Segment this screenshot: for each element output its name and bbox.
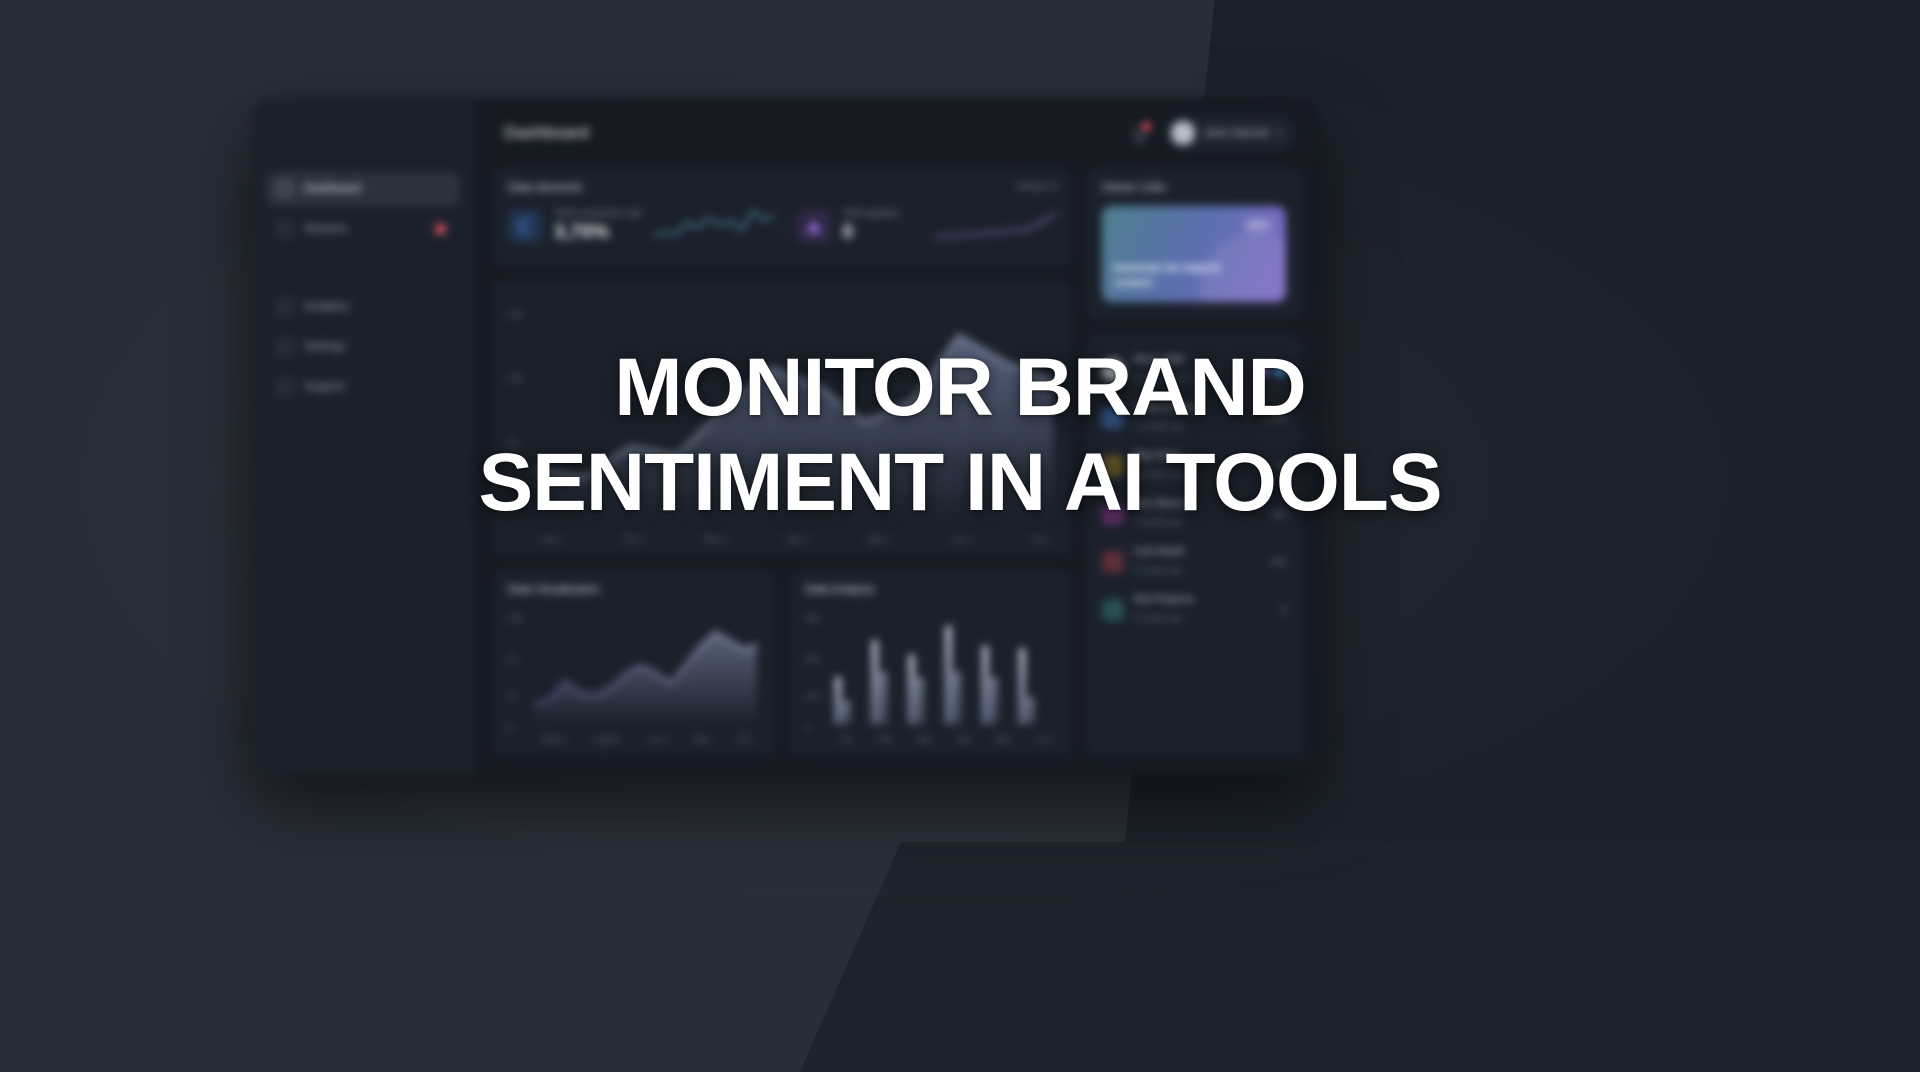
user-name: Jane Samuel [1204, 127, 1268, 139]
list-item-name: Valdev Dreamt [1134, 402, 1255, 413]
list-item-name: Core Wenth [1134, 546, 1262, 557]
stats-card-title: Data elements [508, 182, 1056, 194]
stats-row: Total conversion rate 3,70% Total u [508, 206, 1056, 246]
data-analysis-card: Data Analysis 300 200 100 0 [789, 570, 1072, 756]
list-item-value: 275 [1272, 557, 1286, 567]
content-area: Data elements Annual ▾ Total conversion … [474, 168, 1320, 774]
list-item-name: Reg Yoash [1134, 450, 1267, 461]
app-window: Dashboard Streams Analytics Settings Sup… [252, 98, 1320, 774]
data-visualization-area-chart [508, 608, 759, 742]
card-title: Data Analysis [805, 584, 1056, 596]
x-tick: Mar 1 [705, 534, 727, 544]
x-tick: March [542, 734, 566, 744]
stat-conversion-rate: Total conversion rate 3,70% [508, 208, 768, 244]
list-item-value: 125 [1272, 509, 1286, 519]
list-item-text: Nova Leitell moments hours ago [1134, 354, 1248, 386]
avatar-icon [1102, 359, 1124, 381]
chart-icon [278, 300, 292, 314]
x-tick: Apr [957, 734, 970, 744]
x-tick: Nov [738, 734, 753, 744]
sidebar-item-label: Streams [304, 223, 347, 235]
bell-clapper [1138, 140, 1143, 143]
sidebar-item-settings[interactable]: Settings [266, 330, 460, 364]
page-title: Dashboard [504, 123, 589, 143]
triangle-icon [797, 209, 831, 243]
x-tick: Jan 1 [542, 534, 563, 544]
x-tick: June [647, 734, 665, 744]
sidebar-item-streams[interactable]: Streams [266, 212, 460, 246]
bell-icon[interactable] [1132, 125, 1148, 142]
list-item-value: 78 [1277, 461, 1286, 471]
data-visualization-body: 100 50 10 0 [508, 608, 759, 742]
sidebar: Dashboard Streams Analytics Settings Sup… [252, 98, 474, 774]
sidebar-divider [266, 252, 460, 290]
chevron-down-icon: ▾ [1051, 181, 1056, 192]
list-item-text: Ravi Priyanna 9 months ago [1134, 594, 1271, 626]
list-item-time: 8 minutes ago [1134, 470, 1184, 479]
list-item-name: Nova Leitell [1134, 354, 1248, 365]
heart-icon [1102, 551, 1124, 573]
x-tick: May 1 [868, 534, 891, 544]
data-analysis-bar-chart [805, 608, 1056, 742]
overview-chart-card: 150 100 50 0 [492, 280, 1072, 556]
promo-badge: 26% [1242, 218, 1274, 232]
x-axis-labels: Jan Feb Mar Apr May Jun [839, 734, 1050, 744]
list-item-name: Alex Stromm [1134, 498, 1262, 509]
sidebar-item-label: Dashboard [304, 183, 360, 195]
card-title: Data Visualization [508, 584, 759, 596]
sparkline-conversion [654, 209, 774, 243]
sidebar-item-label: Analytics [304, 301, 350, 313]
stat-label: Total updates [843, 208, 900, 219]
activity-list-card: Nova Leitell moments hours ago Valdev Dr… [1086, 334, 1302, 756]
social-icon-b[interactable] [1275, 365, 1286, 376]
stat-total-updates: Total updates 0 [797, 208, 1057, 244]
stats-card: Data elements Annual ▾ Total conversion … [492, 168, 1072, 266]
stat-value: 0 [843, 222, 854, 243]
list-icon [278, 222, 292, 236]
gear-icon [278, 340, 292, 354]
sidebar-item-label: Settings [304, 341, 346, 353]
x-axis-labels: March August June Sept Nov [542, 734, 753, 744]
list-item[interactable]: Core Wenth 8 months ago 275 [1102, 538, 1286, 586]
owner-links-card: Owner Links 26% Dominate the highest con… [1086, 168, 1302, 320]
list-item-time: 9 months ago [1134, 614, 1182, 623]
sidebar-item-dashboard[interactable]: Dashboard [266, 172, 460, 206]
x-tick: Apr 1 [787, 534, 807, 544]
content-left-column: Data elements Annual ▾ Total conversion … [492, 168, 1072, 756]
x-tick: Mar [917, 734, 932, 744]
list-item[interactable]: Valdev Dreamt 2 minutes ago 1,238 [1102, 394, 1286, 442]
promo-tile[interactable]: 26% Dominate the highest content [1102, 206, 1286, 302]
user-menu[interactable]: Jane Samuel ▾ [1166, 116, 1294, 150]
stat-label: Total conversion rate [554, 208, 642, 219]
sidebar-item-analytics[interactable]: Analytics [266, 290, 460, 324]
list-item-time: 2 minutes ago [1134, 422, 1184, 431]
chevron-down-icon: ▾ [1277, 128, 1282, 139]
list-item-text: Reg Yoash 8 minutes ago [1134, 450, 1267, 482]
x-axis-labels: Jan 1 Feb 1 Mar 1 Apr 1 May 1 Jun 1 Jul … [542, 534, 1050, 544]
avatar [1171, 121, 1195, 145]
list-item-time: 3 months ago [1134, 518, 1182, 527]
x-tick: Jun 1 [951, 534, 972, 544]
card-title: Owner Links [1102, 182, 1286, 194]
notification-badge [1142, 122, 1151, 131]
social-icons [1258, 365, 1286, 376]
social-icon-a[interactable] [1258, 365, 1269, 376]
overview-line-chart [508, 294, 1056, 542]
x-tick: August [593, 734, 619, 744]
list-item[interactable]: Reg Yoash 8 minutes ago 78 [1102, 442, 1286, 490]
list-item-time: 8 months ago [1134, 566, 1182, 575]
x-tick: Jul 1 [1032, 534, 1050, 544]
content-right-column: Owner Links 26% Dominate the highest con… [1086, 168, 1302, 756]
sidebar-item-label: Support [304, 381, 344, 393]
stat-text: Total conversion rate 3,70% [554, 208, 642, 244]
x-tick: Sept [693, 734, 711, 744]
list-item[interactable]: Nova Leitell moments hours ago [1102, 346, 1286, 394]
list-item-time: moments hours ago [1134, 374, 1205, 383]
data-visualization-card: Data Visualization 100 50 10 0 [492, 570, 775, 756]
main-column: Dashboard Jane Samuel ▾ Data elements [474, 98, 1320, 774]
leaf-icon [1102, 599, 1124, 621]
list-item-name: Ravi Priyanna [1134, 594, 1271, 605]
warning-icon [1102, 455, 1124, 477]
refresh-circle-icon [508, 209, 542, 243]
square-icon [1102, 407, 1124, 429]
x-tick: Feb [878, 734, 893, 744]
list-item[interactable]: Alex Stromm 3 months ago 125 [1102, 490, 1286, 538]
sidebar-item-support[interactable]: Support [266, 370, 460, 404]
list-item[interactable]: Ravi Priyanna 9 months ago 9 [1102, 586, 1286, 634]
list-item-value: 1,238 [1265, 413, 1286, 423]
sidebar-badge-dot [435, 224, 446, 235]
sparkline-updates [936, 209, 1056, 243]
app-window-blur-wrapper: Dashboard Streams Analytics Settings Sup… [252, 98, 1320, 774]
list-item-text: Valdev Dreamt 2 minutes ago [1134, 402, 1255, 434]
topbar-actions: Jane Samuel ▾ [1132, 116, 1294, 150]
x-tick: Jun [1036, 734, 1050, 744]
x-tick: Jan [839, 734, 853, 744]
promo-text: Dominate the highest content [1114, 261, 1246, 291]
bottom-charts-row: Data Visualization 100 50 10 0 [492, 570, 1072, 756]
stat-divider [782, 206, 783, 246]
range-label: Annual [1017, 181, 1047, 192]
grid-icon [278, 182, 292, 196]
data-analysis-body: 300 200 100 0 [805, 608, 1056, 742]
x-tick: May [995, 734, 1011, 744]
x-tick: Feb 1 [623, 534, 645, 544]
topbar: Dashboard Jane Samuel ▾ [474, 98, 1320, 168]
lifebuoy-icon [278, 380, 292, 394]
stat-value: 3,70% [554, 222, 609, 243]
list-item-text: Alex Stromm 3 months ago [1134, 498, 1262, 530]
overview-chart-body: 150 100 50 0 [508, 294, 1056, 542]
range-selector[interactable]: Annual ▾ [1017, 181, 1056, 192]
stat-text: Total updates 0 [843, 208, 900, 244]
list-item-text: Core Wenth 8 months ago [1134, 546, 1262, 578]
list-item-value: 9 [1281, 605, 1286, 615]
circle-icon [1102, 503, 1124, 525]
